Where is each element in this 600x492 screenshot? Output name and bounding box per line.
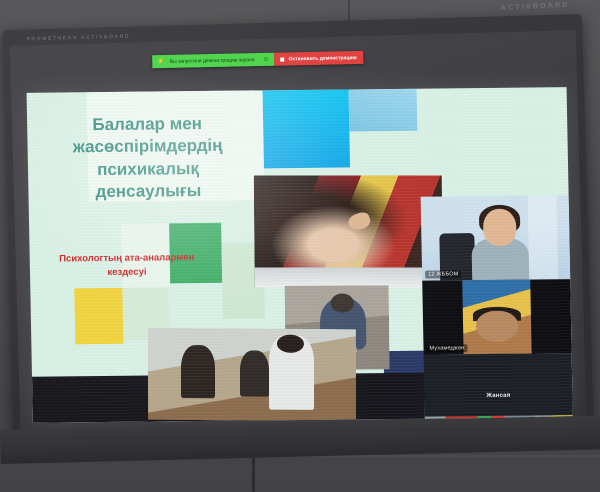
presentation-slide: Балалар мен жасөспірімдердің психикалық … [27,87,573,423]
slide-block-cyan [263,89,350,168]
video-background [527,195,558,279]
photo-detail-person-2 [239,350,268,396]
participant-tile-2[interactable]: Мухамеджан [422,279,571,355]
screen-share-message: Вы запустили демонстрацию экрана [170,57,255,65]
participant-name-2: Мухамеджан [426,344,467,352]
participant-name-1: 12 ЖББОМ [425,270,461,278]
whiteboard-projection-surface: ⚡ Вы запустили демонстрацию экрана ⊙ Ост… [10,30,587,435]
activboard-brand-label: ACTIVBOARD [501,2,570,12]
slide-title: Балалар мен жасөспірімдердің психикалық … [41,112,255,204]
screen-share-status: ⚡ Вы запустили демонстрацию экрана ⊙ [152,53,275,69]
photo-group-counselling [148,328,356,421]
stop-square-icon [281,57,285,61]
participant-video-rail: 12 ЖББОМ Мухамеджан Жансая [417,131,572,419]
participant-tile-1[interactable]: 12 ЖББОМ [421,195,571,281]
participant-tile-3[interactable]: Жансая [424,353,573,417]
screen-share-notification-bar[interactable]: ⚡ Вы запустили демонстрацию экрана ⊙ Ост… [152,51,363,68]
video-detail-face [476,311,518,343]
slide-subtitle: Психологтың ата-аналармен кездесуі [52,251,203,280]
photo-detail-person-3-head [277,334,304,353]
classroom-wall: PROMETHEAN ACTIVBOARD ACTIVBOARD ⚡ Вы за… [0,0,600,492]
photo-detail-head [330,294,353,313]
photo-child-lying-down [254,175,443,287]
lock-icon[interactable]: ⊙ [264,56,269,63]
stop-sharing-label: Остановить демонстрацию [289,54,357,61]
slide-block-yellow [74,288,123,344]
interactive-whiteboard: PROMETHEAN ACTIVBOARD ACTIVBOARD ⚡ Вы за… [2,14,593,445]
stop-sharing-button[interactable]: Остановить демонстрацию [275,51,363,66]
bolt-icon: ⚡ [157,58,165,65]
participant-name-3: Жансая [483,392,513,400]
photo-detail-pillow [255,267,443,287]
slide-block-cyan-light [349,89,418,132]
photo-detail-person-1 [181,345,214,399]
video-detail-face [483,209,516,246]
